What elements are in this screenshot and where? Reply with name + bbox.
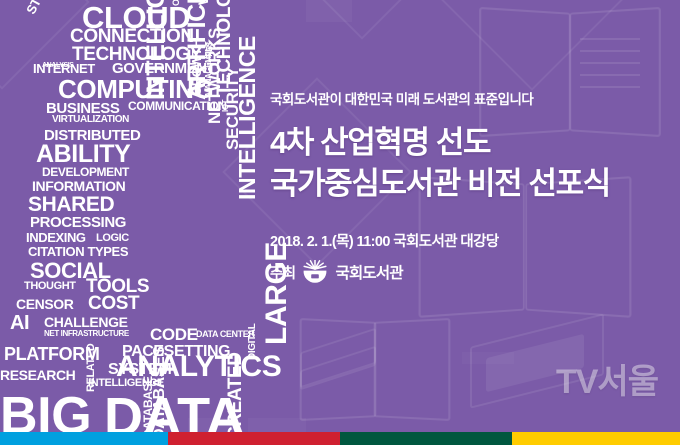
wordcloud-word: NET INFRASTRUCTURE xyxy=(44,330,129,338)
color-bar-segment-cyan xyxy=(0,432,168,445)
wordcloud-word: NETWORKS xyxy=(206,28,223,124)
wordcloud-word: DEVELOPMENT xyxy=(42,166,129,178)
national-assembly-library-emblem-icon xyxy=(302,260,328,284)
wordcloud-word: CHALLENGE xyxy=(44,315,128,329)
host-row: 주최 xyxy=(270,260,672,284)
bottom-color-bar xyxy=(0,432,680,445)
host-name: 국회도서관 xyxy=(335,261,402,283)
poster-subtitle: 국회도서관이 대한민국 미래 도서관의 표준입니다 xyxy=(270,88,672,108)
hex-shape xyxy=(274,0,449,40)
wordcloud-word: COST xyxy=(88,294,139,313)
wordcloud-word: DATABASE xyxy=(142,376,154,432)
wordcloud-word: INTELLIGENCE xyxy=(236,36,259,200)
wordcloud-word: CITATION TYPES xyxy=(28,245,128,258)
wordcloud-word: OPPORTUNITIES xyxy=(172,0,181,6)
event-poster: STORAGECLOUDOPPORTUNITIESWIRELESSCONNECT… xyxy=(0,0,680,445)
wordcloud-word: INFORMATION xyxy=(32,179,125,193)
wordcloud-word: CREATED xyxy=(226,352,245,432)
color-bar-segment-green xyxy=(340,432,512,445)
wordcloud-word: CODE xyxy=(150,326,198,343)
closed-book-outline xyxy=(300,328,376,391)
wordcloud-word: AI xyxy=(10,313,29,333)
band-block xyxy=(306,0,352,22)
closed-book-outline xyxy=(300,346,376,389)
wordcloud-word: DATA xyxy=(104,390,244,432)
text-block: 국회도서관이 대한민국 미래 도서관의 표준입니다 4차 산업혁명 선도 국가중… xyxy=(262,88,672,284)
wordcloud-word: RELATED xyxy=(86,344,97,392)
wordcloud-word: DIGITAL xyxy=(248,324,258,360)
word-cloud-numeral-4: STORAGECLOUDOPPORTUNITIESWIRELESSCONNECT… xyxy=(0,0,300,432)
headline-line-1: 4차 산업혁명 선도 xyxy=(270,122,672,163)
wordcloud-word: VIRTUALIZATION xyxy=(52,115,129,125)
poster-headline: 4차 산업혁명 선도 국가중심도서관 비전 선포식 xyxy=(270,122,672,204)
wordcloud-word: BIG xyxy=(0,390,91,432)
hex-shape xyxy=(423,0,641,91)
color-bar-segment-yellow xyxy=(512,432,680,445)
wordcloud-word: DATA CENTER xyxy=(196,330,254,339)
wordcloud-word: INTELLIGENCE xyxy=(144,0,169,100)
wordcloud-word: RESEARCH xyxy=(0,368,75,382)
wordcloud-word: STORAGE xyxy=(24,0,64,16)
wordcloud-word: THOUGHT xyxy=(24,281,76,292)
open-book-outline xyxy=(300,320,450,415)
color-bar-segment-red xyxy=(168,432,340,445)
host-label: 주최 xyxy=(270,262,295,283)
wordcloud-word: PROCESSING xyxy=(30,215,126,230)
band-block xyxy=(462,352,514,364)
wordcloud-word: SHARED xyxy=(28,194,114,215)
event-datetime-venue: 2018. 2. 1.(목) 11:00 국회도서관 대강당 xyxy=(270,230,672,251)
headline-line-2: 국가중심도서관 비전 선포식 xyxy=(270,163,672,204)
wordcloud-word: CENSOR xyxy=(16,297,74,311)
wordcloud-word: LOGIC xyxy=(96,233,129,244)
wordcloud-word: INDEXING xyxy=(26,231,86,244)
watermark-tv-seoul: TV서울 xyxy=(556,354,658,403)
event-meta: 2018. 2. 1.(목) 11:00 국회도서관 대강당 주최 xyxy=(270,230,672,284)
wordcloud-word: ABILITY xyxy=(36,142,130,167)
